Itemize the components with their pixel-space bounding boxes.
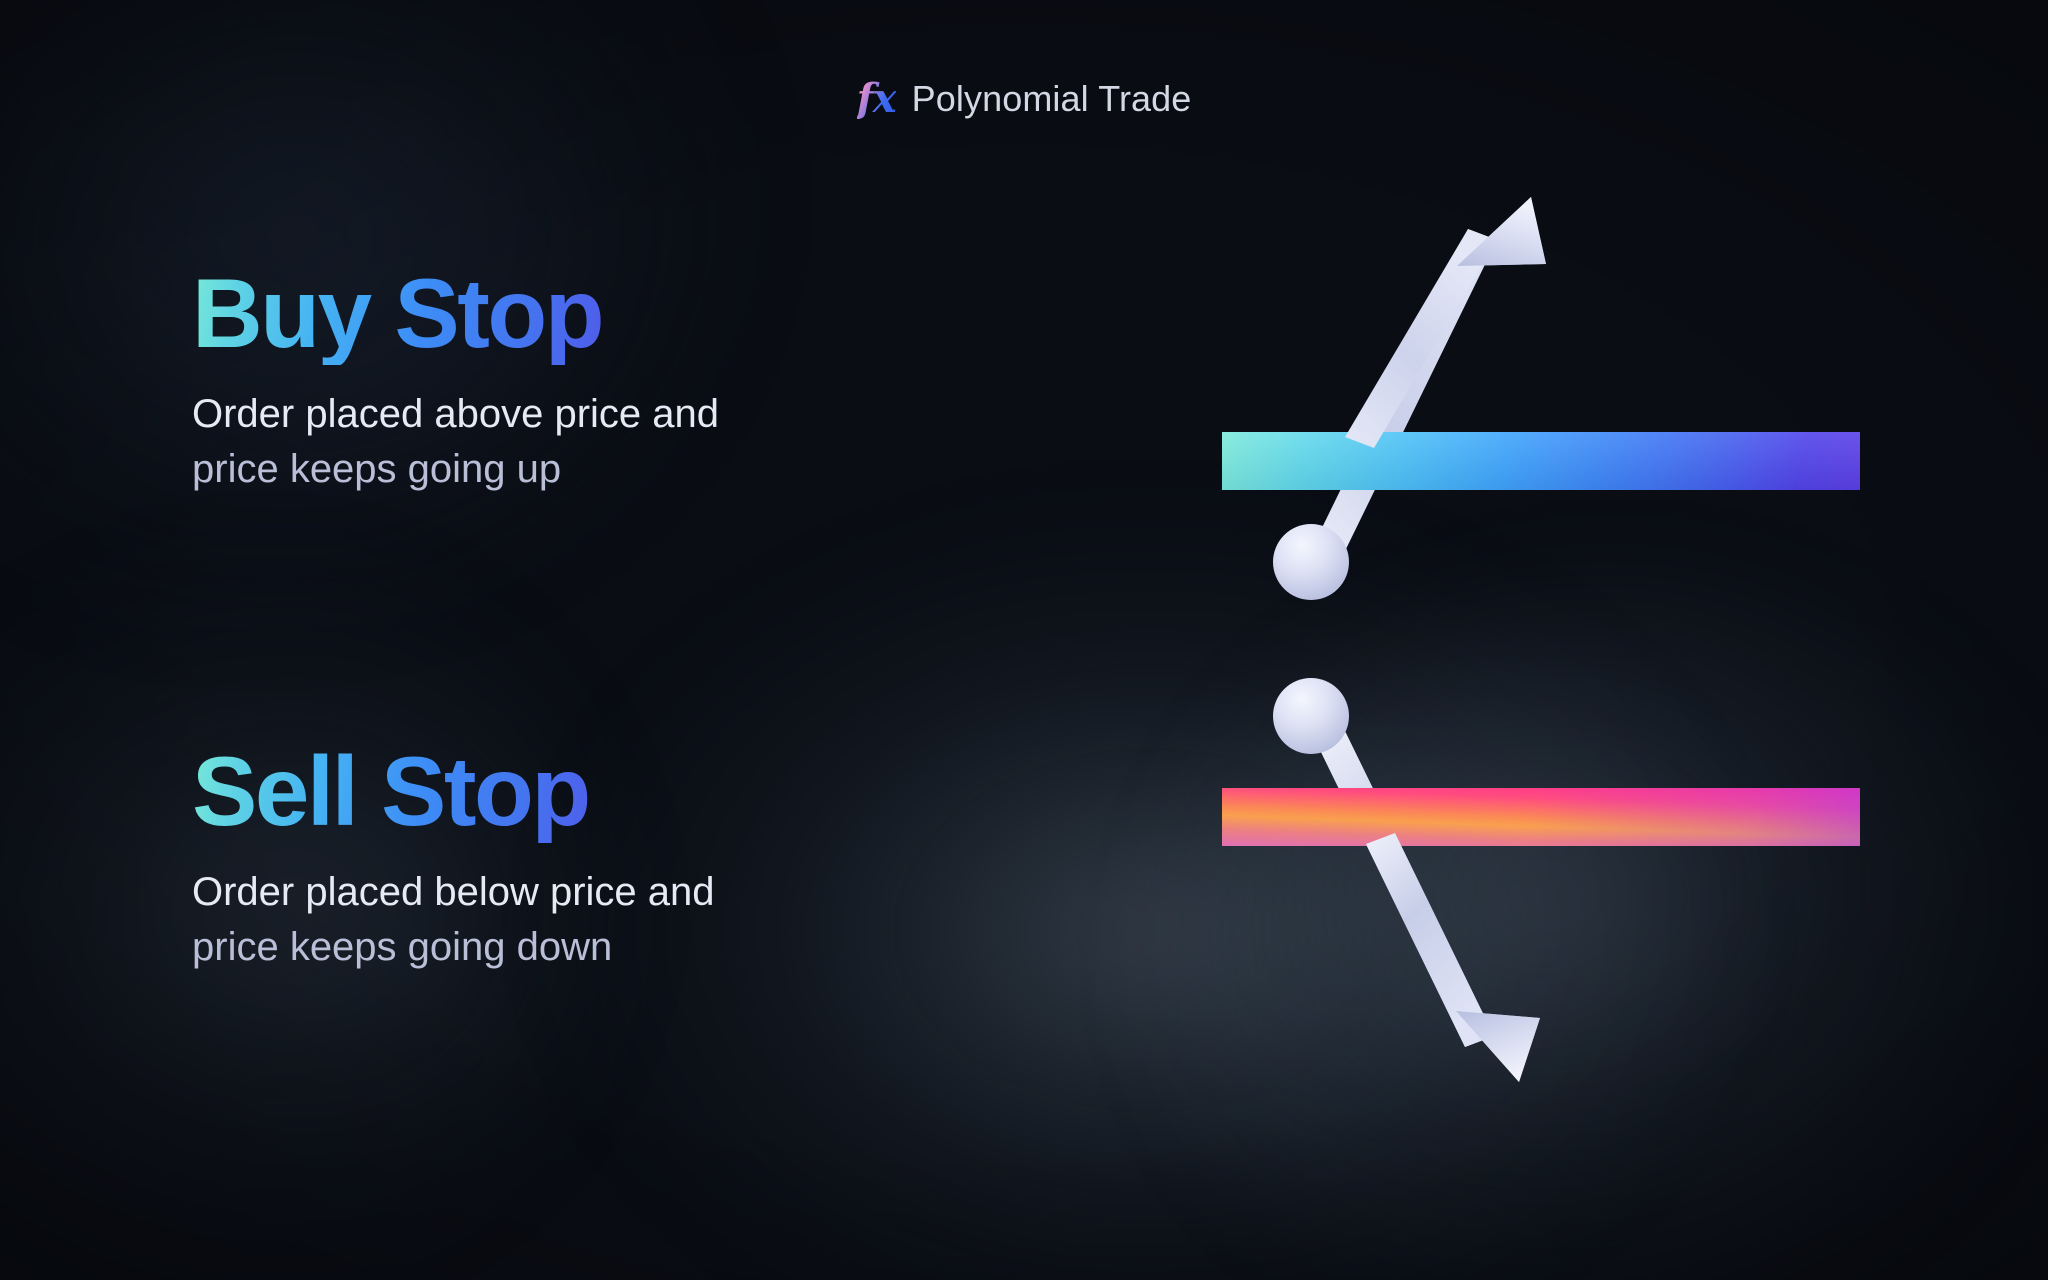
sell-stop-description-line1: Order placed below price and — [192, 865, 715, 920]
brand-name: Polynomial Trade — [912, 78, 1192, 120]
buy-stop-heading: Buy Stop — [192, 262, 719, 365]
buy-stop-up-arrow-front — [1345, 197, 1546, 448]
arrow-layer-front — [0, 0, 2048, 1280]
order-diagram — [0, 0, 2048, 1280]
sell-stop-down-arrow-front — [1366, 833, 1540, 1082]
sell-stop-description: Order placed below price and price keeps… — [192, 865, 715, 975]
sell-stop-heading: Sell Stop — [192, 740, 715, 843]
brand-header: fx Polynomial Trade — [0, 78, 2048, 120]
sell-stop-description-line2: price keeps going down — [192, 920, 715, 975]
infographic-canvas: fx Polynomial Trade Buy Stop Order place… — [0, 0, 2048, 1280]
sell-stop-section: Sell Stop Order placed below price and p… — [192, 740, 715, 975]
buy-stop-description-line1: Order placed above price and — [192, 387, 719, 442]
buy-stop-description-line2: price keeps going up — [192, 442, 719, 497]
buy-stop-description: Order placed above price and price keeps… — [192, 387, 719, 497]
fx-logo-icon: fx — [857, 79, 896, 119]
buy-stop-section: Buy Stop Order placed above price and pr… — [192, 262, 719, 497]
